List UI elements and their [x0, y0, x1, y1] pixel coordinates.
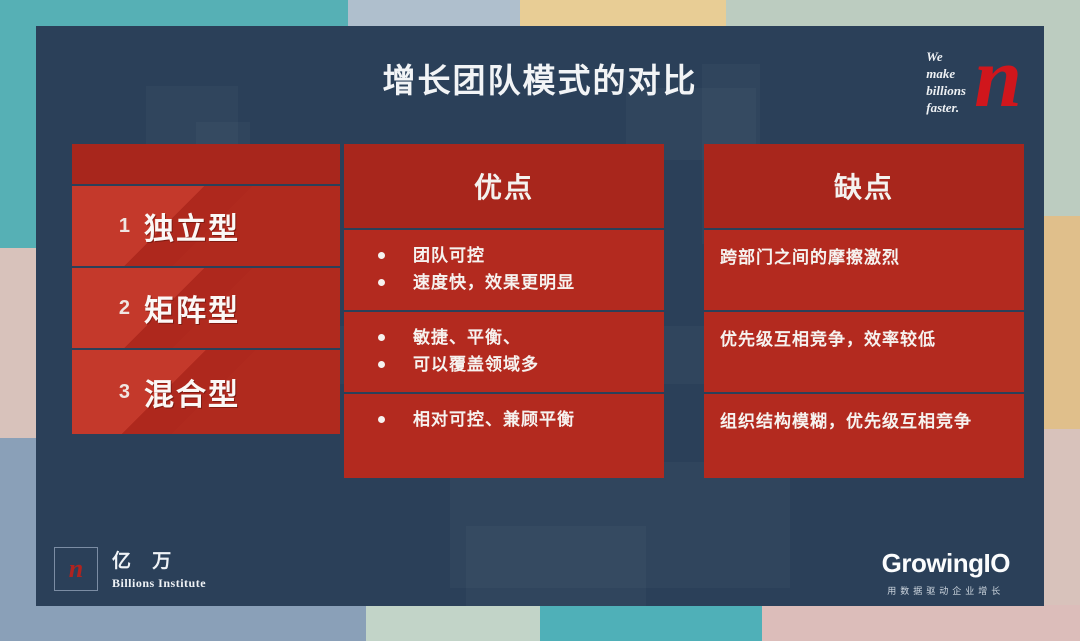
pros-cell: 相对可控、兼顾平衡: [344, 392, 664, 478]
slide-canvas: 增长团队模式的对比 n We make billions faster. 1 独…: [0, 0, 1080, 641]
growingio-brand: GrowingIO: [882, 548, 1010, 579]
list-item: 团队可控: [344, 242, 664, 269]
cons-text: 优先级互相竞争，效率较低: [720, 326, 1010, 354]
list-item-label: 可以覆盖领域多: [413, 351, 539, 378]
comparison-table: 1 独立型 2 矩阵型 3 混合型 优点: [72, 144, 1024, 476]
deco-block-bottom-teal: [540, 605, 762, 641]
cons-text: 组织结构模糊，优先级互相竞争: [720, 408, 1010, 436]
table-row: 1 独立型: [72, 184, 340, 266]
tagline-line: make: [926, 65, 966, 82]
slide-panel: 增长团队模式的对比 n We make billions faster. 1 独…: [36, 26, 1044, 606]
deco-block-right-sage: [1044, 0, 1080, 216]
list-item: 敏捷、平衡、: [344, 324, 664, 351]
deco-block-left-blush: [0, 248, 36, 438]
growingio-tagline: 用数据驱动企业增长: [882, 584, 1010, 597]
list-item: 速度快，效果更明显: [344, 269, 664, 296]
pros-cell: 敏捷、平衡、 可以覆盖领域多: [344, 310, 664, 392]
billions-institute-logo: n 亿 万 Billions Institute: [54, 546, 206, 591]
row-index: 2: [72, 297, 144, 320]
bullet-icon: [378, 334, 385, 341]
list-item-label: 相对可控、兼顾平衡: [413, 406, 575, 433]
tagline-line: We: [926, 48, 966, 65]
pros-list: 相对可控、兼顾平衡: [344, 406, 664, 433]
tagline-line: faster.: [926, 99, 966, 116]
bullet-icon: [378, 416, 385, 423]
row-index: 3: [72, 381, 144, 404]
cons-cell: 优先级互相竞争，效率较低: [704, 310, 1024, 392]
deco-block-bottom-sage: [366, 605, 540, 641]
column-header-type: [72, 144, 340, 184]
deco-block-bottom-blush: [762, 605, 1080, 641]
list-item-label: 速度快，效果更明显: [413, 269, 575, 296]
row-name: 混合型: [144, 370, 240, 414]
cons-cell: 组织结构模糊，优先级互相竞争: [704, 392, 1024, 478]
column-header-pros: 优点: [344, 144, 664, 228]
table-column-cons: 缺点 跨部门之间的摩擦激烈 优先级互相竞争，效率较低 组织结构模糊，优先级互相竞…: [704, 144, 1024, 478]
page-title: 增长团队模式的对比: [36, 54, 1044, 102]
billions-en-name: Billions Institute: [112, 576, 206, 591]
deco-block-right-gold: [1044, 216, 1080, 429]
bullet-icon: [378, 252, 385, 259]
cons-cell: 跨部门之间的摩擦激烈: [704, 228, 1024, 310]
brand-tagline: We make billions faster.: [926, 48, 966, 116]
list-item-label: 敏捷、平衡、: [413, 324, 521, 351]
column-header-cons: 缺点: [704, 144, 1024, 228]
bullet-icon: [378, 361, 385, 368]
list-item-label: 团队可控: [413, 242, 485, 269]
table-column-pros: 优点 团队可控 速度快，效果更明显 敏捷、平衡、 可以覆盖领域多 相对可控: [344, 144, 664, 478]
list-item: 相对可控、兼顾平衡: [344, 406, 664, 433]
row-name: 矩阵型: [144, 286, 240, 330]
deco-block-left-teal: [0, 0, 36, 248]
bullet-icon: [378, 279, 385, 286]
row-name: 独立型: [144, 204, 240, 248]
pros-cell: 团队可控 速度快，效果更明显: [344, 228, 664, 310]
watermark-shape: [466, 526, 646, 606]
billions-monogram-icon: n: [54, 547, 98, 591]
table-row: 3 混合型: [72, 348, 340, 434]
table-row: 2 矩阵型: [72, 266, 340, 348]
monogram-n-icon: n: [974, 34, 1022, 120]
growingio-logo: GrowingIO 用数据驱动企业增长: [882, 548, 1010, 597]
billions-cn-name: 亿 万: [112, 546, 206, 573]
table-column-type: 1 独立型 2 矩阵型 3 混合型: [72, 144, 340, 434]
list-item: 可以覆盖领域多: [344, 351, 664, 378]
billions-logo-text: 亿 万 Billions Institute: [112, 546, 206, 591]
deco-block-bottom-steel: [0, 605, 366, 641]
cons-text: 跨部门之间的摩擦激烈: [720, 244, 1010, 272]
pros-list: 团队可控 速度快，效果更明显: [344, 242, 664, 296]
pros-list: 敏捷、平衡、 可以覆盖领域多: [344, 324, 664, 378]
row-index: 1: [72, 215, 144, 238]
tagline-line: billions: [926, 82, 966, 99]
